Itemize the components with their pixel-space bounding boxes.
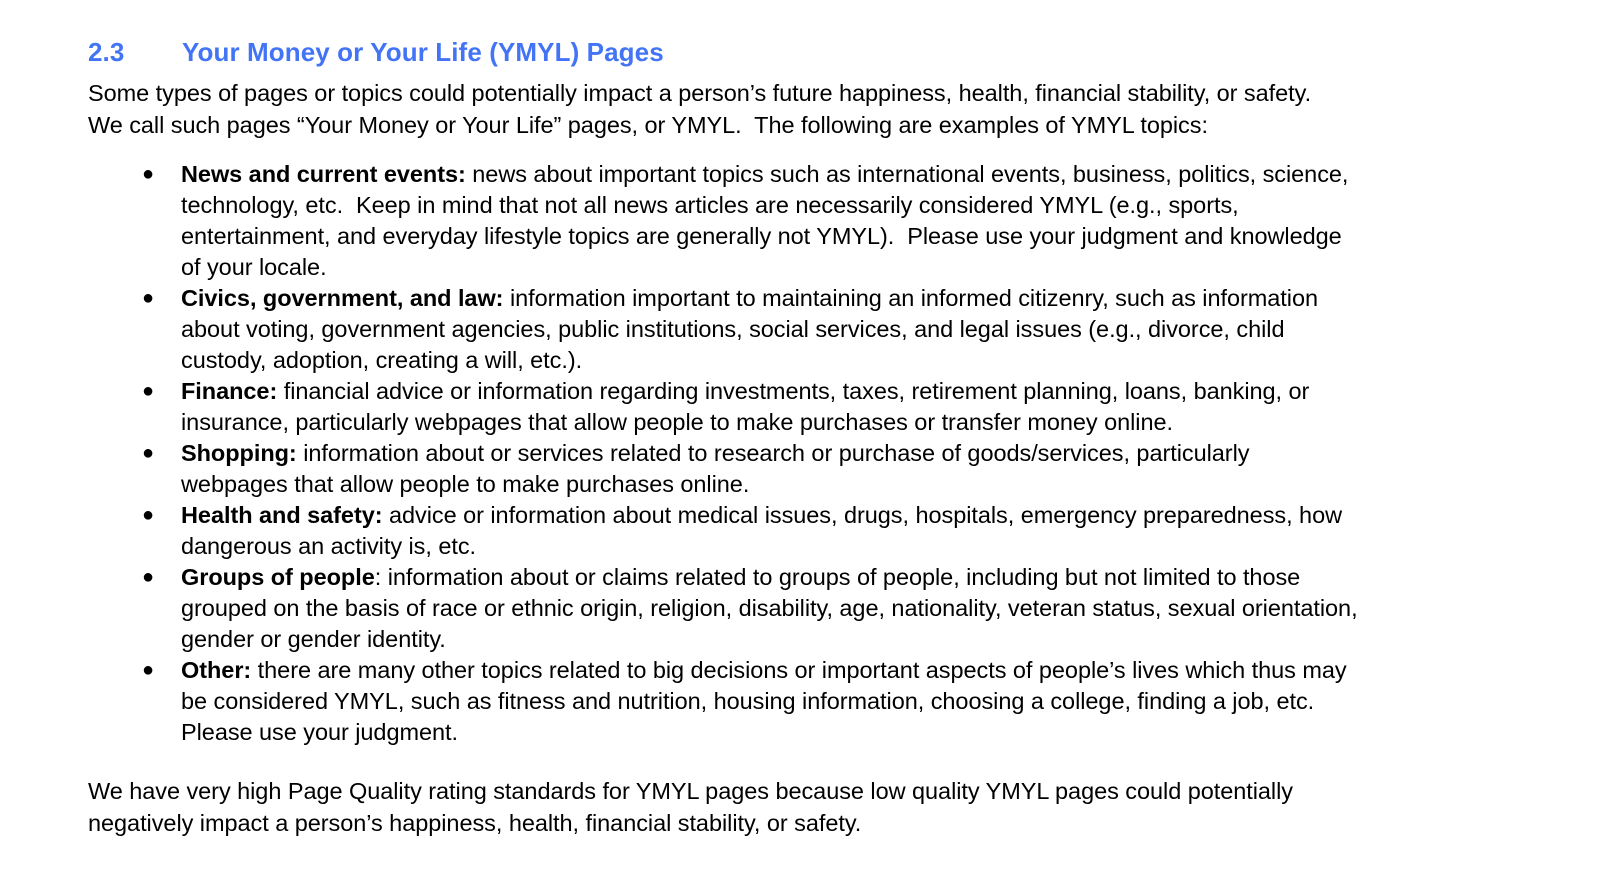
- list-item-line: Other: there are many other topics relat…: [181, 655, 1548, 686]
- list-item-text: : information about or claims related to…: [375, 564, 1300, 590]
- list-item-line: of your locale.: [181, 252, 1548, 283]
- list-item-body: Shopping: information about or services …: [181, 438, 1548, 500]
- list-item-lead-in: Civics, government, and law:: [181, 285, 503, 311]
- list-item-body: Groups of people: information about or c…: [181, 562, 1548, 655]
- intro-line: Some types of pages or topics could pote…: [88, 78, 1488, 110]
- intro-line: We call such pages “Your Money or Your L…: [88, 110, 1488, 142]
- list-item-text: there are many other topics related to b…: [251, 657, 1346, 683]
- list-item-line: Health and safety: advice or information…: [181, 500, 1548, 531]
- bullet-icon: ●: [138, 562, 158, 593]
- list-item-lead-in: Finance:: [181, 378, 277, 404]
- bullet-icon: ●: [138, 655, 158, 686]
- list-item-lead-in: Health and safety:: [181, 502, 383, 528]
- section-title: Your Money or Your Life (YMYL) Pages: [182, 36, 664, 68]
- list-item-line: Please use your judgment.: [181, 717, 1548, 748]
- intro-paragraph: Some types of pages or topics could pote…: [88, 78, 1488, 141]
- list-item-lead-in: Other:: [181, 657, 251, 683]
- list-item-line: grouped on the basis of race or ethnic o…: [181, 593, 1548, 624]
- list-item-line: be considered YMYL, such as fitness and …: [181, 686, 1548, 717]
- list-item-body: News and current events: news about impo…: [181, 159, 1548, 283]
- bullet-icon: ●: [138, 283, 158, 314]
- list-item: ●Civics, government, and law: informatio…: [88, 283, 1548, 376]
- list-item-line: Shopping: information about or services …: [181, 438, 1548, 469]
- list-item-line: Groups of people: information about or c…: [181, 562, 1548, 593]
- closing-paragraph: We have very high Page Quality rating st…: [88, 776, 1488, 839]
- list-item-body: Health and safety: advice or information…: [181, 500, 1548, 562]
- list-item-line: dangerous an activity is, etc.: [181, 531, 1548, 562]
- list-item: ●Shopping: information about or services…: [88, 438, 1548, 500]
- list-item-line: Finance: financial advice or information…: [181, 376, 1548, 407]
- bullet-icon: ●: [138, 500, 158, 531]
- list-item-lead-in: Shopping:: [181, 440, 297, 466]
- bullet-icon: ●: [138, 159, 158, 190]
- list-item-line: entertainment, and everyday lifestyle to…: [181, 221, 1548, 252]
- list-item-line: Civics, government, and law: information…: [181, 283, 1548, 314]
- list-item-text: financial advice or information regardin…: [277, 378, 1309, 404]
- list-item-line: custody, adoption, creating a will, etc.…: [181, 345, 1548, 376]
- list-item-line: about voting, government agencies, publi…: [181, 314, 1548, 345]
- bullet-icon: ●: [138, 438, 158, 469]
- list-item-line: gender or gender identity.: [181, 624, 1548, 655]
- section-heading: 2.3 Your Money or Your Life (YMYL) Pages: [88, 36, 664, 68]
- closing-line: negatively impact a person’s happiness, …: [88, 808, 1488, 840]
- list-item: ●Groups of people: information about or …: [88, 562, 1548, 655]
- list-item-text: information important to maintaining an …: [503, 285, 1318, 311]
- document-page: 2.3 Your Money or Your Life (YMYL) Pages…: [0, 0, 1620, 886]
- bullet-icon: ●: [138, 376, 158, 407]
- closing-line: We have very high Page Quality rating st…: [88, 776, 1488, 808]
- section-number: 2.3: [88, 36, 182, 68]
- list-item-lead-in: Groups of people: [181, 564, 375, 590]
- list-item-body: Civics, government, and law: information…: [181, 283, 1548, 376]
- list-item-line: News and current events: news about impo…: [181, 159, 1548, 190]
- list-item-line: webpages that allow people to make purch…: [181, 469, 1548, 500]
- list-item-body: Other: there are many other topics relat…: [181, 655, 1548, 748]
- list-item-lead-in: News and current events:: [181, 161, 466, 187]
- list-item-line: technology, etc. Keep in mind that not a…: [181, 190, 1548, 221]
- ymyl-topics-list: ●News and current events: news about imp…: [88, 159, 1548, 748]
- list-item: ●Health and safety: advice or informatio…: [88, 500, 1548, 562]
- list-item-text: advice or information about medical issu…: [383, 502, 1343, 528]
- list-item: ●Finance: financial advice or informatio…: [88, 376, 1548, 438]
- list-item: ●Other: there are many other topics rela…: [88, 655, 1548, 748]
- list-item-line: insurance, particularly webpages that al…: [181, 407, 1548, 438]
- list-item-body: Finance: financial advice or information…: [181, 376, 1548, 438]
- list-item-text: news about important topics such as inte…: [466, 161, 1349, 187]
- list-item: ●News and current events: news about imp…: [88, 159, 1548, 283]
- list-item-text: information about or services related to…: [297, 440, 1250, 466]
